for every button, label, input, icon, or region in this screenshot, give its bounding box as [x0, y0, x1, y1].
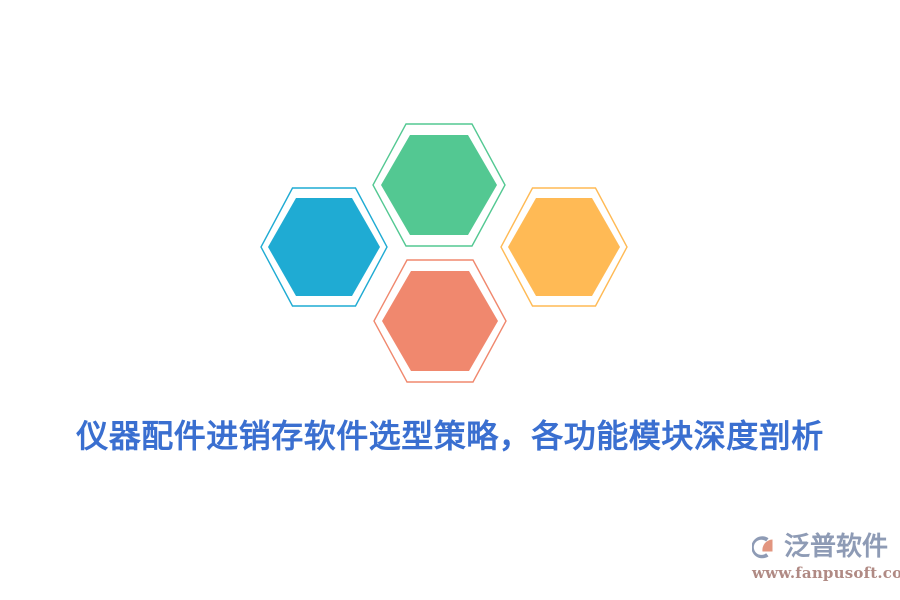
- blue-hexagon-fill: [268, 198, 380, 296]
- watermark-brand-row: 泛普软件: [752, 528, 888, 566]
- green-hexagon: [373, 124, 505, 246]
- fanpu-logo-icon: [752, 532, 782, 562]
- watermark-url: www.fanpusoft.com: [752, 564, 888, 582]
- salmon-hexagon-fill: [382, 271, 498, 371]
- slide-canvas: 仪器配件进销存软件选型策略，各功能模块深度剖析 泛普软件 www.fanpuso…: [0, 0, 900, 600]
- hexagon-cluster-svg: [0, 0, 900, 420]
- watermark-brand: 泛普软件: [784, 532, 888, 562]
- blue-hexagon: [261, 188, 387, 306]
- hexagon-cluster: [0, 0, 900, 420]
- page-title: 仪器配件进销存软件选型策略，各功能模块深度剖析: [0, 414, 900, 458]
- salmon-hexagon: [374, 260, 506, 382]
- green-hexagon-fill: [381, 135, 497, 235]
- orange-hexagon: [501, 188, 627, 306]
- orange-hexagon-fill: [508, 198, 620, 296]
- watermark: 泛普软件 www.fanpusoft.com: [752, 528, 888, 590]
